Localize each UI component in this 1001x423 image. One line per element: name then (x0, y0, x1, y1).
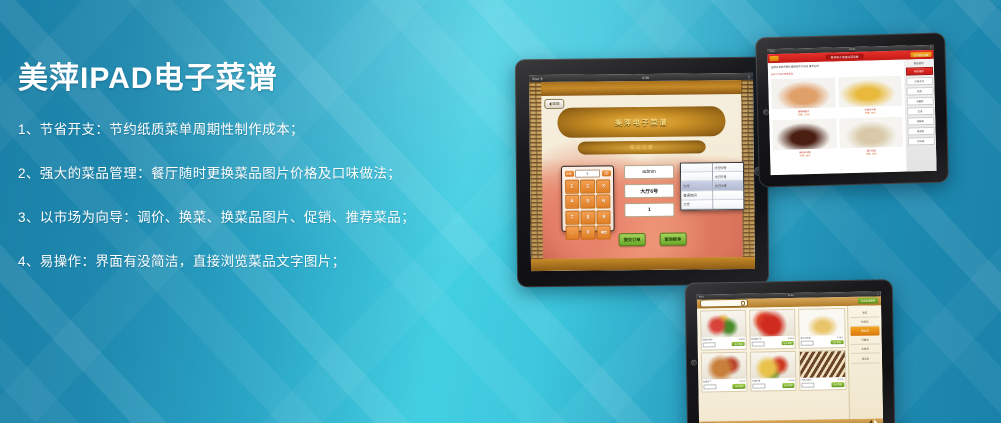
user-field[interactable]: admin (624, 165, 674, 180)
gold-top-band (529, 80, 753, 96)
add-to-cart-button[interactable]: 加入菜篮 (830, 340, 843, 344)
dish-price: ￥28元 (837, 336, 844, 339)
app-title: 美萍电子菜谱点菜系统 (826, 54, 864, 60)
keypad-display: 6 (575, 169, 600, 177)
dish-price: 价格：58元 (840, 151, 904, 156)
sidebar-item-category[interactable]: 热菜类 (850, 317, 879, 327)
keypad-tag: 数量 (564, 170, 573, 176)
dish-card[interactable]: 红烧茄汁虾 ￥68元 加入菜篮 (749, 309, 796, 349)
feature-bullet-3: 3、以市场为向导：调价、换菜、换菜品图片、促销、推荐菜品； (18, 209, 486, 228)
action-button-row: 提交订单 查询账单 (619, 233, 687, 247)
table-select-dropdown[interactable]: 大厅 普通包间 大厅 大厅6号 大厅5号 大厅6号 (680, 162, 744, 211)
sidebar-item-category[interactable]: 精品推荐 (905, 67, 932, 76)
dropdown-item[interactable] (713, 191, 744, 201)
sidebar-item-category[interactable]: 凉菜系列 (906, 77, 933, 86)
table-field[interactable]: 大厅6号 (624, 184, 674, 199)
dropdown-item[interactable]: 大厅 (681, 200, 712, 210)
dropdown-item-selected[interactable]: 大厅6号 (713, 181, 744, 191)
menu-frame: 返回 美萍电子菜谱 提交订单 数量 6 ⌫ 1 (529, 80, 755, 271)
keypad-key[interactable]: 6 (596, 194, 610, 208)
feature-bullet-4: 4、易操作：界面有没简洁，直接浏览菜品文字图片； (18, 253, 486, 272)
dish-name: 红烧茄汁虾 (751, 337, 761, 340)
numeric-keypad[interactable]: 数量 6 ⌫ 1 2 3 4 5 6 7 8 (561, 165, 615, 232)
marketing-copy: 美萍IPAD电子菜谱 1、节省开支：节约纸质菜单周期性制作成本； 2、强大的菜品… (16, 62, 486, 297)
dish-name: 尖椒炒蛋 (752, 380, 760, 383)
tablet-screen: iPad 10:21 ▯ 美萍电子菜谱点菜系统 已点菜品查看 全国只有美萍餐饮管… (767, 45, 936, 175)
dish-image (771, 77, 835, 109)
app-subtitle: 提交订单 (630, 144, 654, 151)
dish-actions: 加入菜篮 (702, 383, 747, 392)
order-form-fields: admin 大厅6号 1 (624, 165, 675, 223)
sidebar-title: 菜品类别 (905, 61, 932, 66)
tablet-bezel: iPad 10:21 ▯ 美萍电子菜谱点菜系统 已点菜品查看 全国只有美萍餐饮管… (755, 33, 949, 188)
sidebar-item-category[interactable]: 素菜类 (907, 127, 934, 136)
dish-price: ￥26元 (788, 379, 795, 382)
dropdown-item[interactable]: 普通包间 (681, 191, 712, 201)
quantity-stepper[interactable] (702, 342, 715, 348)
sidebar-item-category[interactable]: 主食 (906, 107, 933, 116)
dropdown-item[interactable]: 大厅6号 (712, 163, 743, 173)
keypad-key[interactable]: 5 (581, 195, 595, 209)
sidebar-item-category[interactable]: 汤羹类 (906, 97, 933, 106)
status-time: 10:36 (788, 294, 794, 297)
sidebar-item-category[interactable]: 汤羹类 (851, 335, 880, 345)
dish-grid: 彩椒炒肉丝 ￥38元 加入菜篮 (700, 308, 846, 392)
dropdown-item[interactable] (681, 172, 712, 182)
dish-name: 千层巧克力 (801, 379, 811, 382)
menu-body: 全国只有美萍餐饮管理软件产品系 最专业的 当日十大热门推荐菜品 香辣烤鱼片 价格… (768, 59, 937, 175)
dish-actions: 加入菜篮 (800, 381, 845, 390)
dish-price: ￥68元 (787, 337, 794, 340)
query-bill-button[interactable]: 查询账单 (659, 233, 686, 246)
dish-image (799, 309, 844, 336)
dish-price: ￥38元 (738, 338, 745, 341)
sidebar-item-category[interactable]: 海鲜类 (907, 117, 934, 126)
dish-image (800, 351, 845, 378)
dish-card[interactable]: 彩椒炒肉丝 ￥38元 加入菜篮 (700, 310, 747, 350)
keypad-key[interactable]: 1 (565, 179, 579, 193)
dish-price: 价格：68元 (839, 110, 903, 115)
dropdown-column-table: 大厅6号 大厅5号 大厅6号 (712, 163, 743, 209)
tablet-bezel: iPad 令 9:38 ▯ 返回 美萍电子菜谱 提交订单 (515, 57, 769, 288)
keypad-key[interactable]: . (565, 226, 579, 240)
quantity-stepper[interactable] (752, 383, 765, 389)
dish-card[interactable]: 黑椒焖牛腩 价格：88元 (772, 118, 836, 158)
keypad-display-row: 数量 6 ⌫ (564, 169, 610, 177)
sidebar-item-category[interactable]: 主食类 (851, 344, 880, 354)
status-time: 9:38 (642, 75, 649, 79)
tablet-screen: iPad 令 9:38 ▯ 返回 美萍电子菜谱 提交订单 (529, 73, 755, 271)
add-to-cart-button[interactable]: 加入菜篮 (781, 341, 794, 345)
status-battery-icon: ▯ (930, 46, 932, 49)
keypad-key[interactable]: 3 (596, 179, 610, 193)
tablet-dish-catalog-screen: iPad 10:36 ▯ 已点菜品查看 彩椒炒肉丝 (685, 279, 896, 423)
status-carrier: iPad (769, 50, 774, 53)
tablet-main-order-screen: iPad 令 9:38 ▯ 返回 美萍电子菜谱 提交订单 (515, 57, 769, 288)
sidebar-item-category[interactable]: 饮料类 (907, 137, 934, 146)
dish-image (701, 353, 746, 380)
category-sidebar: 凉菜 热菜类 精品菜 汤羹类 主食类 甜品类 (847, 305, 883, 419)
catalog-body: 彩椒炒肉丝 ￥38元 加入菜篮 (697, 305, 883, 421)
subtitle-plate: 提交订单 (578, 140, 706, 154)
status-battery-icon: ▯ (877, 292, 878, 295)
add-to-cart-button[interactable]: 加入菜篮 (733, 384, 746, 388)
status-time: 10:21 (849, 48, 856, 51)
feature-bullet-1: 1、节省开支：节约纸质菜单周期性制作成本； (18, 121, 486, 140)
search-input[interactable] (700, 299, 748, 307)
promo-banner: 美萍IPAD电子菜谱 1、节省开支：节约纸质菜单周期性制作成本； 2、强大的菜品… (0, 0, 1001, 423)
add-to-cart-button[interactable]: 加入菜篮 (732, 342, 745, 346)
dish-image (838, 75, 902, 107)
dish-actions: 加入菜篮 (701, 341, 746, 350)
dish-image (772, 118, 836, 150)
keypad-confirm-key[interactable]: 确定 (597, 226, 611, 240)
dish-image (750, 310, 795, 337)
page-title: 美萍IPAD电子菜谱 (18, 62, 486, 95)
count-field[interactable]: 1 (624, 203, 674, 218)
dish-price: ￥32元 (837, 378, 844, 381)
back-button[interactable] (770, 56, 779, 62)
category-sidebar: 菜品类别 精品推荐 凉菜系列 热菜 汤羹类 主食 海鲜类 素菜类 饮料类 (904, 59, 937, 172)
sidebar-item-category[interactable]: 凉菜 (850, 308, 879, 318)
keypad-key[interactable]: 0 (581, 226, 595, 240)
dish-price: ￥42元 (739, 380, 746, 383)
dish-actions: 加入菜篮 (799, 339, 844, 348)
view-ordered-button[interactable]: 已点菜品查看 (858, 297, 878, 303)
dish-image (839, 116, 903, 148)
status-battery-icon: ▯ (748, 74, 750, 78)
dish-card[interactable]: 宫保鸡丁 ￥42元 加入菜篮 (700, 352, 747, 392)
sidebar-item-category[interactable]: 甜品类 (851, 354, 880, 364)
dish-grid-area: 彩椒炒肉丝 ￥38元 加入菜篮 (697, 305, 849, 421)
status-carrier: iPad 令 (532, 76, 543, 81)
dish-card[interactable]: 千层巧克力 ￥32元 加入菜篮 (799, 350, 846, 390)
quantity-stepper[interactable] (703, 384, 716, 390)
dish-image (701, 311, 746, 338)
dish-name: 宫保鸡丁 (703, 380, 711, 383)
back-button[interactable]: 返回 (544, 99, 564, 109)
promo-subnote: 当日十大热门推荐菜品 (771, 68, 901, 75)
dish-card[interactable]: 彩椒炒牛柳 价格：68元 (838, 75, 902, 115)
dish-price: 价格：128元 (772, 112, 836, 117)
dish-name: 金沙玉米粒 (800, 336, 810, 339)
gold-bottom-band (531, 257, 755, 271)
keypad-key[interactable]: 2 (580, 179, 594, 193)
dish-grid-area: 全国只有美萍餐饮管理软件产品系 最专业的 当日十大热门推荐菜品 香辣烤鱼片 价格… (768, 60, 907, 176)
sidebar-item-category[interactable]: 热菜 (906, 87, 933, 96)
greek-key-border-left (529, 82, 543, 271)
feature-bullet-2: 2、强大的菜品管理：餐厅随时更换菜品图片价格及口味做法； (18, 165, 486, 184)
dropdown-item[interactable] (681, 163, 712, 173)
keypad-key[interactable]: 4 (565, 195, 579, 209)
app-title-plate: 美萍电子菜谱 (557, 106, 725, 138)
keypad-key[interactable]: 7 (565, 210, 579, 224)
dish-image (751, 352, 796, 379)
tablet-screen: iPad 10:36 ▯ 已点菜品查看 彩椒炒肉丝 (697, 291, 883, 423)
dish-actions: 加入菜篮 (750, 340, 795, 349)
add-to-cart-button[interactable]: 加入菜篮 (782, 383, 795, 387)
dropdown-item[interactable] (713, 200, 744, 210)
dropdown-item-selected[interactable]: 大厅 (681, 182, 712, 192)
keypad-key[interactable]: 9 (597, 210, 611, 224)
home-button-icon[interactable] (691, 360, 697, 366)
tablet-bezel: iPad 10:36 ▯ 已点菜品查看 彩椒炒肉丝 (685, 279, 896, 423)
status-carrier: iPad (699, 295, 704, 298)
view-ordered-button[interactable]: 已点菜品查看 (910, 52, 931, 58)
dish-name: 彩椒炒肉丝 (702, 338, 712, 341)
dropdown-column-area: 大厅 普通包间 大厅 (681, 163, 713, 209)
backspace-icon[interactable]: ⌫ (601, 170, 610, 176)
dropdown-item[interactable]: 大厅5号 (713, 172, 744, 182)
app-title: 美萍电子菜谱 (615, 116, 668, 128)
dish-card[interactable]: 鲍汁捞饭 价格：58元 (839, 116, 903, 156)
dish-card[interactable]: 香辣烤鱼片 价格：128元 (771, 77, 835, 117)
tablet-menu-browse-screen: iPad 10:21 ▯ 美萍电子菜谱点菜系统 已点菜品查看 全国只有美萍餐饮管… (755, 33, 949, 188)
quantity-stepper[interactable] (751, 341, 764, 347)
dish-card[interactable]: 金沙玉米粒 ￥28元 加入菜篮 (798, 308, 845, 348)
keypad-grid: 1 2 3 4 5 6 7 8 9 . 0 确定 (565, 179, 612, 240)
quantity-stepper[interactable] (801, 382, 814, 388)
dish-grid: 香辣烤鱼片 价格：128元 彩椒炒牛柳 价格：68元 黑椒焖牛腩 (771, 75, 903, 157)
add-to-cart-button[interactable]: 加入菜篮 (831, 383, 844, 387)
keypad-key[interactable]: 8 (581, 210, 595, 224)
dish-actions: 加入菜篮 (751, 382, 796, 391)
quantity-stepper[interactable] (800, 340, 813, 346)
dish-card[interactable]: 尖椒炒蛋 ￥26元 加入菜篮 (749, 351, 796, 391)
dish-price: 价格：88元 (773, 153, 837, 158)
submit-order-button[interactable]: 提交订单 (619, 233, 646, 246)
